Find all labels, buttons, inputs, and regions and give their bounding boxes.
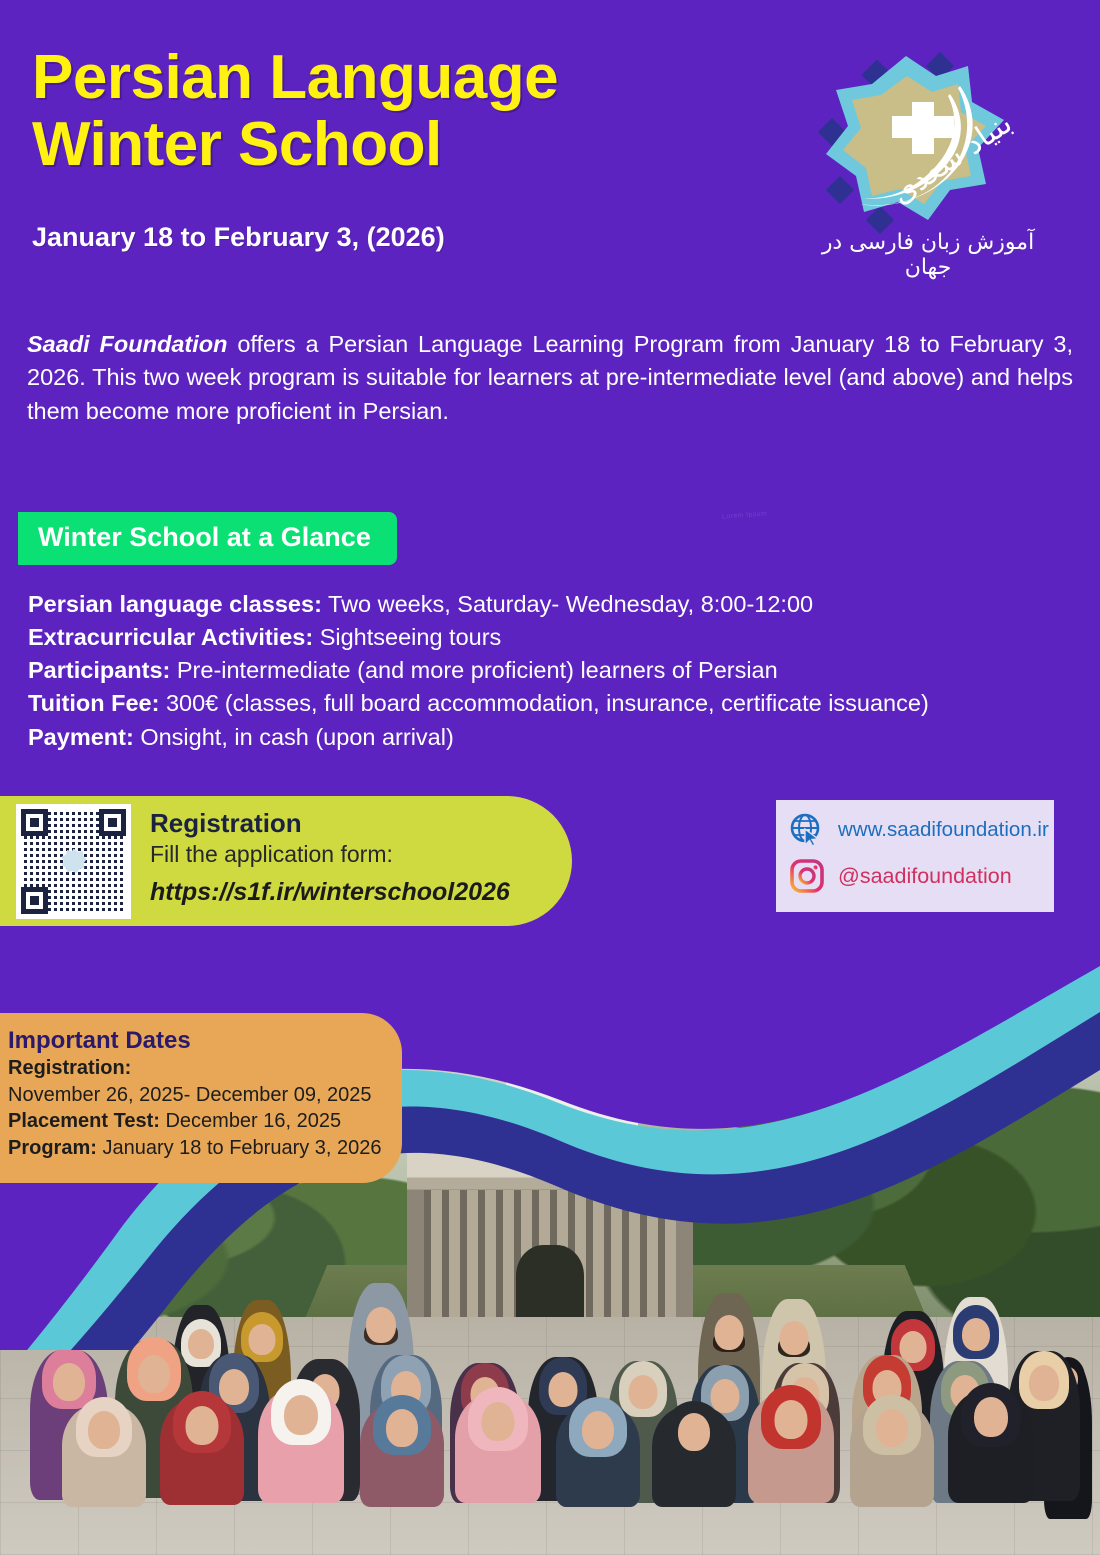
registration-title: Registration <box>150 808 510 839</box>
logo-tagline: آموزش زبان فارسی در جهان <box>808 230 1048 280</box>
photo-person <box>556 1405 640 1555</box>
registration-text: Registration Fill the application form: … <box>150 808 510 907</box>
poster-root: Persian Language Winter School January 1… <box>0 0 1100 1555</box>
website-link[interactable]: www.saadifoundation.ir <box>838 818 1049 842</box>
important-dates-title: Important Dates <box>8 1027 382 1055</box>
photo-person <box>160 1399 244 1555</box>
contact-row-instagram[interactable]: @saadifoundation <box>790 854 1012 898</box>
intro-organization-name: Saadi Foundation <box>27 331 227 357</box>
title-line-2: Winter School <box>32 112 558 179</box>
photo-person <box>258 1389 344 1555</box>
dates-row-placement-test: Placement Test: December 16, 2025 <box>8 1108 382 1135</box>
photo-person <box>62 1405 146 1555</box>
qr-center-logo-icon <box>61 849 87 875</box>
glance-details-list: Persian language classes: Two weeks, Sat… <box>28 588 1068 754</box>
photo-person <box>360 1403 444 1555</box>
instagram-handle[interactable]: @saadifoundation <box>838 864 1012 889</box>
detail-label: Participants: <box>28 657 170 683</box>
detail-value: 300€ (classes, full board accommodation,… <box>159 690 928 716</box>
detail-row-payment: Payment: Onsight, in cash (upon arrival) <box>28 721 1068 754</box>
detail-label: Persian language classes: <box>28 591 322 617</box>
registration-url-link[interactable]: https://s1f.ir/winterschool2026 <box>150 878 510 907</box>
important-dates-panel: Important Dates Registration: November 2… <box>0 1013 402 1183</box>
qr-code-matrix <box>21 809 126 914</box>
qr-finder-top-left <box>21 809 48 836</box>
qr-code[interactable] <box>16 804 131 919</box>
detail-value: Two weeks, Saturday- Wednesday, 8:00-12:… <box>322 591 813 617</box>
detail-row-classes: Persian language classes: Two weeks, Sat… <box>28 588 1068 621</box>
watermark-text: Lorem Ipsum <box>722 510 768 520</box>
photo-person <box>455 1395 541 1555</box>
detail-row-activities: Extracurricular Activities: Sightseeing … <box>28 621 1068 654</box>
program-dates-subtitle: January 18 to February 3, (2026) <box>32 222 445 253</box>
page-title: Persian Language Winter School <box>32 45 558 179</box>
detail-value: Sightseeing tours <box>313 624 501 650</box>
dates-row-program: Program: January 18 to February 3, 2026 <box>8 1135 382 1162</box>
dates-label: Program: <box>8 1137 97 1159</box>
logo-name-persian: بنیاد سعدی <box>885 106 1018 212</box>
registration-instruction: Fill the application form: <box>150 841 510 868</box>
title-line-1: Persian Language <box>32 45 558 112</box>
contact-panel: www.saadifoundation.ir @saadifoundation <box>776 800 1054 912</box>
glance-banner: Winter School at a Glance <box>18 512 397 565</box>
detail-value: Pre-intermediate (and more proficient) l… <box>170 657 777 683</box>
detail-row-participants: Participants: Pre-intermediate (and more… <box>28 654 1068 687</box>
dates-row-registration-label: Registration: <box>8 1055 382 1082</box>
dates-value: November 26, 2025- December 09, 2025 <box>8 1084 372 1106</box>
qr-finder-top-right <box>99 809 126 836</box>
dates-value: December 16, 2025 <box>160 1110 341 1132</box>
detail-label: Extracurricular Activities: <box>28 624 313 650</box>
detail-label: Payment: <box>28 724 134 750</box>
dates-value: January 18 to February 3, 2026 <box>97 1137 382 1159</box>
instagram-icon <box>790 859 824 893</box>
logo-calligraphy: بنیاد سعدی <box>808 42 1048 242</box>
contact-row-website[interactable]: www.saadifoundation.ir <box>790 808 1049 852</box>
dates-label: Placement Test: <box>8 1110 160 1132</box>
dates-row-registration-range: November 26, 2025- December 09, 2025 <box>8 1082 382 1109</box>
glance-heading: Winter School at a Glance <box>38 522 371 552</box>
photo-person <box>652 1407 736 1555</box>
detail-value: Onsight, in cash (upon arrival) <box>134 724 454 750</box>
detail-label: Tuition Fee: <box>28 690 159 716</box>
globe-cursor-icon <box>790 813 824 847</box>
dates-label: Registration: <box>8 1057 131 1079</box>
registration-panel: Registration Fill the application form: … <box>0 796 572 926</box>
saadi-foundation-logo: بنیاد سعدی آموزش زبان فارسی در جهان <box>808 42 1048 272</box>
photo-person <box>850 1403 934 1555</box>
detail-row-tuition: Tuition Fee: 300€ (classes, full board a… <box>28 687 1068 720</box>
intro-paragraph: Saadi Foundation offers a Persian Langua… <box>27 328 1073 428</box>
photo-person <box>948 1391 1034 1555</box>
qr-finder-bottom-left <box>21 887 48 914</box>
photo-person <box>748 1393 834 1555</box>
